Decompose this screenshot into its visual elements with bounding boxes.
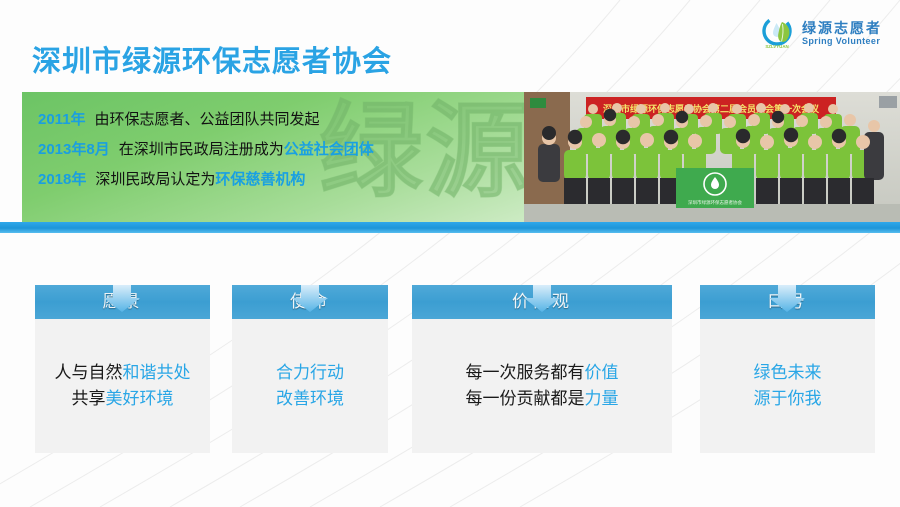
card-line-highlight: 绿色未来 (754, 363, 822, 382)
water-drop-leaf-emblem-icon: SZLVYUAN (762, 16, 796, 50)
card-body-line: 每一份贡献都是力量 (466, 386, 619, 412)
card-line-highlight: 源于你我 (754, 389, 822, 408)
pillar-card-vision: 愿景 人与自然和谐共处 共享美好环境 (35, 285, 210, 453)
org-history-panel: 绿源 2011年 由环保志愿者、公益团队共同发起 2013年8月 在深圳市民政局… (22, 92, 525, 222)
card-body-line: 每一次服务都有价值 (466, 360, 619, 386)
group-photo: 深圳市绿源环保志愿者协会第二届会员大会第一次会议 (524, 92, 900, 222)
card-body-line: 源于你我 (754, 386, 822, 412)
logo-name-cn: 绿源志愿者 (802, 21, 882, 35)
card-body-text: 人与自然和谐共处 共享美好环境 (55, 360, 191, 413)
card-line-plain: 每一次服务都有 (466, 363, 585, 382)
history-line-list: 2011年 由环保志愿者、公益团队共同发起 2013年8月 在深圳市民政局注册成… (38, 108, 519, 198)
card-body-line: 改善环境 (276, 386, 344, 412)
card-line-highlight: 和谐共处 (123, 363, 191, 382)
svg-text:深圳市绿源环保志愿者协会: 深圳市绿源环保志愿者协会 (688, 199, 742, 206)
page-title: 深圳市绿源环保志愿者协会 (32, 38, 392, 80)
card-line-highlight: 合力行动 (276, 363, 344, 382)
down-arrow-icon (768, 285, 806, 313)
history-highlight: 公益社会团体 (284, 138, 374, 159)
blue-divider-strip (0, 222, 900, 233)
card-line-highlight: 力量 (585, 389, 619, 408)
pillar-card-row: 愿景 人与自然和谐共处 共享美好环境 使命 (0, 255, 900, 455)
history-highlight: 环保慈善机构 (215, 168, 305, 189)
pillar-card-values: 价值观 每一次服务都有价值 每一份贡献都是力量 (412, 285, 672, 453)
card-line-plain: 共享 (72, 389, 106, 408)
card-line-plain: 每一份贡献都是 (466, 389, 585, 408)
history-text: 由环保志愿者、公益团队共同发起 (95, 108, 320, 129)
history-year: 2013年8月 (38, 138, 110, 159)
card-line-highlight: 美好环境 (106, 389, 174, 408)
card-body: 合力行动 改善环境 (232, 319, 388, 453)
card-line-highlight: 价值 (585, 363, 619, 382)
history-year: 2011年 (38, 108, 86, 129)
brand-logo: SZLVYUAN 绿源志愿者 Spring Volunteer (762, 16, 882, 50)
card-body-line: 合力行动 (276, 360, 344, 386)
down-arrow-icon (523, 285, 561, 313)
card-body: 人与自然和谐共处 共享美好环境 (35, 319, 210, 453)
down-arrow-icon (291, 285, 329, 313)
pillar-card-mission: 使命 合力行动 改善环境 (232, 285, 388, 453)
pillar-card-slogan: 口号 绿色未来 源于你我 (700, 285, 875, 453)
logo-name-en: Spring Volunteer (802, 37, 882, 46)
card-body: 每一次服务都有价值 每一份贡献都是力量 (412, 319, 672, 453)
card-body-line: 共享美好环境 (55, 386, 191, 412)
history-text: 在深圳市民政局注册成为 (119, 138, 284, 159)
card-body-text: 合力行动 改善环境 (276, 360, 344, 413)
down-arrow-icon (103, 285, 141, 313)
history-year: 2018年 (38, 168, 86, 189)
card-line-highlight: 改善环境 (276, 389, 344, 408)
card-body-text: 每一次服务都有价值 每一份贡献都是力量 (466, 360, 619, 413)
history-line: 2011年 由环保志愿者、公益团队共同发起 (38, 108, 519, 129)
card-body-text: 绿色未来 源于你我 (754, 360, 822, 413)
card-body-line: 绿色未来 (754, 360, 822, 386)
history-line: 2018年 深圳民政局认定为 环保慈善机构 (38, 168, 519, 189)
svg-text:SZLVYUAN: SZLVYUAN (765, 44, 788, 49)
card-body: 绿色未来 源于你我 (700, 319, 875, 453)
slide-canvas: SZLVYUAN 绿源志愿者 Spring Volunteer 深圳市绿源环保志… (0, 0, 900, 507)
history-line: 2013年8月 在深圳市民政局注册成为 公益社会团体 (38, 138, 519, 159)
history-text: 深圳民政局认定为 (95, 168, 215, 189)
card-line-plain: 人与自然 (55, 363, 123, 382)
card-body-line: 人与自然和谐共处 (55, 360, 191, 386)
